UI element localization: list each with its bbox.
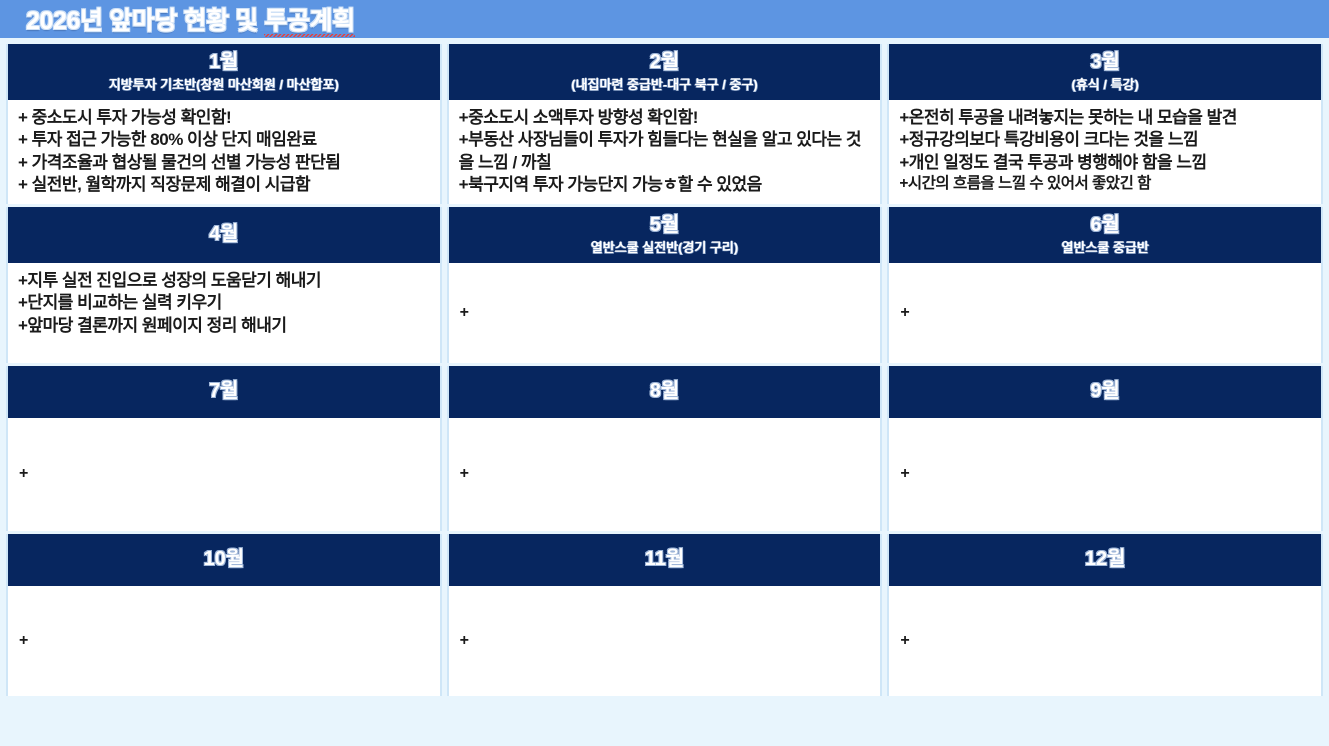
month-body-11[interactable]: +: [449, 586, 881, 696]
note-line: +앞마당 결론까지 원페이지 정리 해내기: [18, 315, 432, 337]
month-cell-7[interactable]: 7월 +: [6, 366, 442, 531]
month-label: 8월: [650, 379, 680, 404]
month-body-1[interactable]: + 중소도시 투자 가능성 확인함! + 투자 접근 가능한 80% 이상 단지…: [8, 100, 440, 204]
month-subtitle: (휴식 / 특강): [1072, 77, 1139, 94]
month-body-2[interactable]: +중소도시 소액투자 방향성 확인함! +부동산 사장님들이 투자가 힘들다는 …: [449, 100, 881, 204]
month-cell-11[interactable]: 11월 +: [447, 534, 883, 696]
month-cell-3[interactable]: 3월 (휴식 / 특강) +온전히 투공을 내려놓지는 못하는 내 모습을 발견…: [887, 44, 1323, 204]
page-title-misspelled-word: 투공계획: [264, 7, 354, 37]
month-header-10: 10월: [8, 534, 440, 586]
note-line: +시간의 흐름을 느낄 수 있어서 좋았긴 함: [899, 174, 1313, 194]
month-header-7: 7월: [8, 366, 440, 418]
month-cell-8[interactable]: 8월 +: [447, 366, 883, 531]
month-header-11: 11월: [449, 534, 881, 586]
month-label: 10월: [204, 547, 245, 572]
note-line: +온전히 투공을 내려놓지는 못하는 내 모습을 발견: [899, 107, 1313, 129]
month-row: 4월 +지투 실전 진입으로 성장의 도움닫기 해내기 +단지를 비교하는 실력…: [6, 207, 1323, 363]
month-body-5[interactable]: +: [449, 263, 881, 363]
month-cell-4[interactable]: 4월 +지투 실전 진입으로 성장의 도움닫기 해내기 +단지를 비교하는 실력…: [6, 207, 442, 363]
add-note-placeholder: +: [19, 464, 432, 485]
add-note-placeholder: +: [19, 631, 432, 652]
month-label: 6월: [1090, 213, 1120, 238]
month-label: 1월: [209, 50, 239, 75]
document-title-bar: 2026년 앞마당 현황 및 투공계획: [0, 0, 1329, 38]
month-header-5: 5월 열반스쿨 실전반(경기 구리): [449, 207, 881, 263]
month-header-1: 1월 지방투자 기초반(창원 마산회원 / 마산합포): [8, 44, 440, 100]
footer-spacer: [0, 699, 1329, 729]
page-title-prefix: 2026년 앞마당 현황 및: [26, 7, 264, 35]
month-body-12[interactable]: +: [889, 586, 1321, 696]
note-line: +정규강의보다 특강비용이 크다는 것을 느낌: [899, 129, 1313, 151]
month-cell-5[interactable]: 5월 열반스쿨 실전반(경기 구리) +: [447, 207, 883, 363]
month-subtitle: 열반스쿨 실전반(경기 구리): [591, 240, 738, 257]
add-note-placeholder: +: [900, 303, 1313, 324]
month-label: 2월: [650, 50, 680, 75]
month-cell-9[interactable]: 9월 +: [887, 366, 1323, 531]
month-body-6[interactable]: +: [889, 263, 1321, 363]
month-header-12: 12월: [889, 534, 1321, 586]
note-line: + 중소도시 투자 가능성 확인함!: [18, 107, 432, 129]
month-row: 10월 + 11월 + 12월 +: [6, 534, 1323, 696]
note-line: +지투 실전 진입으로 성장의 도움닫기 해내기: [18, 270, 432, 292]
month-grid: 1월 지방투자 기초반(창원 마산회원 / 마산합포) + 중소도시 투자 가능…: [0, 38, 1329, 696]
add-note-placeholder: +: [900, 631, 1313, 652]
month-label: 7월: [209, 379, 239, 404]
month-subtitle: 열반스쿨 중급반: [1062, 240, 1149, 257]
note-line: +부동산 사장님들이 투자가 힘들다는 현실을 알고 있다는 것을 느낌 / 까…: [459, 129, 873, 174]
month-header-9: 9월: [889, 366, 1321, 418]
month-row: 1월 지방투자 기초반(창원 마산회원 / 마산합포) + 중소도시 투자 가능…: [6, 44, 1323, 204]
add-note-placeholder: +: [460, 303, 873, 324]
note-line: +중소도시 소액투자 방향성 확인함!: [459, 107, 873, 129]
month-header-3: 3월 (휴식 / 특강): [889, 44, 1321, 100]
month-cell-2[interactable]: 2월 (내집마련 중급반-대구 북구 / 중구) +중소도시 소액투자 방향성 …: [447, 44, 883, 204]
month-body-7[interactable]: +: [8, 418, 440, 531]
month-cell-1[interactable]: 1월 지방투자 기초반(창원 마산회원 / 마산합포) + 중소도시 투자 가능…: [6, 44, 442, 204]
month-header-6: 6월 열반스쿨 중급반: [889, 207, 1321, 263]
month-header-8: 8월: [449, 366, 881, 418]
note-line: + 실전반, 월학까지 직장문제 해결이 시급함: [18, 174, 432, 196]
month-label: 11월: [645, 547, 685, 572]
month-cell-10[interactable]: 10월 +: [6, 534, 442, 696]
month-body-10[interactable]: +: [8, 586, 440, 696]
month-body-8[interactable]: +: [449, 418, 881, 531]
month-cell-12[interactable]: 12월 +: [887, 534, 1323, 696]
month-body-9[interactable]: +: [889, 418, 1321, 531]
note-line: + 가격조율과 협상될 물건의 선별 가능성 판단됨: [18, 152, 432, 174]
month-label: 12월: [1085, 547, 1126, 572]
add-note-placeholder: +: [900, 464, 1313, 485]
month-header-4: 4월: [8, 207, 440, 263]
page-title: 2026년 앞마당 현황 및 투공계획: [26, 1, 355, 37]
month-body-3[interactable]: +온전히 투공을 내려놓지는 못하는 내 모습을 발견 +정규강의보다 특강비용…: [889, 100, 1321, 204]
month-cell-6[interactable]: 6월 열반스쿨 중급반 +: [887, 207, 1323, 363]
note-line: +북구지역 투자 가능단지 가능ㅎ할 수 있었음: [459, 174, 873, 196]
month-header-2: 2월 (내집마련 중급반-대구 북구 / 중구): [449, 44, 881, 100]
add-note-placeholder: +: [460, 464, 873, 485]
month-label: 4월: [209, 222, 239, 247]
note-line: + 투자 접근 가능한 80% 이상 단지 매임완료: [18, 129, 432, 151]
month-subtitle: (내집마련 중급반-대구 북구 / 중구): [571, 77, 758, 94]
month-subtitle: 지방투자 기초반(창원 마산회원 / 마산합포): [109, 77, 339, 94]
note-line: +단지를 비교하는 실력 키우기: [18, 292, 432, 314]
month-row: 7월 + 8월 + 9월 +: [6, 366, 1323, 531]
add-note-placeholder: +: [460, 631, 873, 652]
note-line: +개인 일정도 결국 투공과 병행해야 함을 느낌: [899, 152, 1313, 174]
month-body-4[interactable]: +지투 실전 진입으로 성장의 도움닫기 해내기 +단지를 비교하는 실력 키우…: [8, 263, 440, 363]
month-label: 5월: [650, 213, 680, 238]
month-label: 9월: [1090, 379, 1120, 404]
month-label: 3월: [1090, 50, 1120, 75]
